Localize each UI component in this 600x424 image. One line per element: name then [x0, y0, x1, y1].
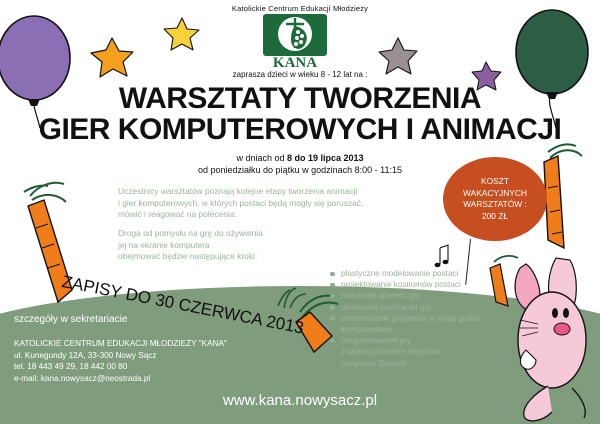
step-item: tworzenie scenerii gry: [330, 290, 530, 301]
website-url[interactable]: www.kana.nowysacz.pl: [0, 392, 600, 409]
organization-name: Katolickie Centrum Edukacji Młodzieży: [0, 4, 600, 13]
poster-canvas: Katolickie Centrum Edukacji Młodzieży KA…: [0, 0, 600, 424]
step-item: komputerowej: [330, 324, 530, 335]
dates-prefix: w dniach od: [236, 153, 287, 163]
invitation-text: zaprasza dzieci w wieku 8 - 12 lat na :: [0, 70, 600, 79]
music-note-icon: [435, 245, 449, 267]
step-item: programu Scratch: [330, 358, 530, 369]
step-item: projektowanie kostiumów postaci: [330, 279, 530, 290]
step-item: określanie mechaniki gry: [330, 302, 530, 313]
steps-list: plastyczne modelowanie postaciprojektowa…: [330, 268, 530, 369]
step-item: plastyczne modelowanie postaci: [330, 268, 530, 279]
description-paragraph-2: Droga od pomysłu na grę do ożywienia jej…: [118, 228, 378, 263]
price-badge: KOSZT WAKACYJNYCH WARSZTATÓW : 200 ZŁ: [443, 157, 547, 241]
step-item: programowanie gry: [330, 335, 530, 346]
yellow-star-icon: [164, 18, 199, 50]
title-line-1: WARSZTATY TWORZENIA: [0, 82, 600, 116]
kana-logo: KANA: [258, 14, 332, 70]
dates-value: 8 do 19 lipca 2013: [287, 153, 364, 163]
grey-star-icon: [379, 38, 417, 74]
step-item: z wykorzystaniem skryptów: [330, 346, 530, 357]
contact-block: KATOLICKIE CENTRUM EDUKACJI MŁODZIEŻY "K…: [14, 338, 227, 384]
step-item: przenoszenie projektów w świat grafiki: [330, 313, 530, 324]
title-line-2: GIER KOMPUTEROWYCH I ANIMACJI: [0, 113, 600, 147]
description-paragraph-1: Uczestnicy warsztatów poznają kolejne et…: [118, 186, 378, 221]
svg-text:KANA: KANA: [273, 55, 317, 70]
secretariat-note: szczegóły w sekretariacie: [14, 314, 127, 325]
